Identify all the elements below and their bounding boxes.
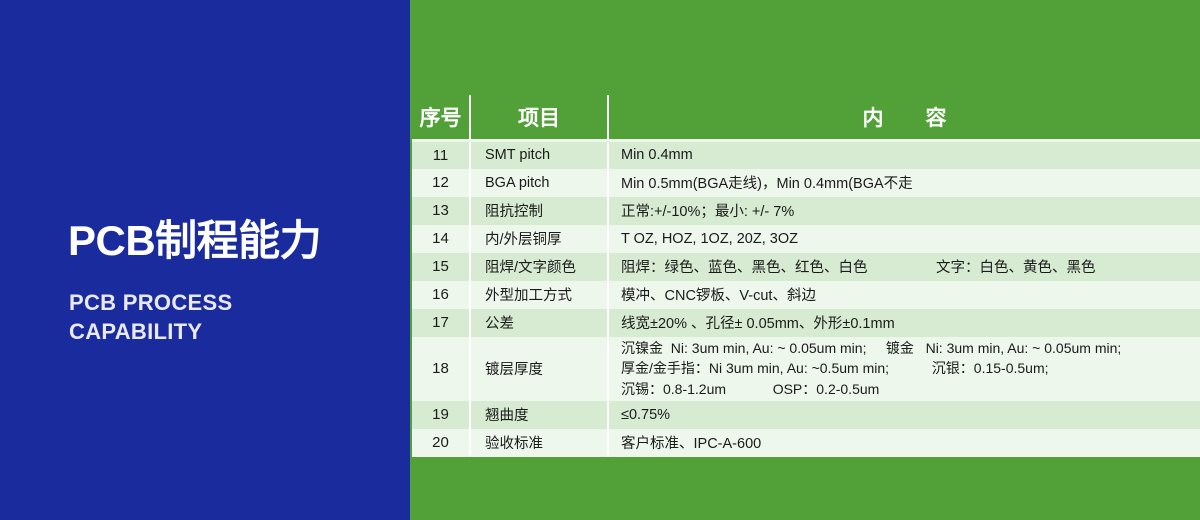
cell-content-solder-colors: 阻焊：绿色、蓝色、黑色、红色、白色 (621, 256, 936, 277)
cell-no: 17 (412, 309, 470, 337)
cell-content: Min 0.5mm(BGA走线)，Min 0.4mm(BGA不走 (608, 169, 1200, 197)
cell-no: 19 (412, 401, 470, 429)
cell-no: 11 (412, 141, 470, 169)
column-header-item: 项目 (470, 95, 608, 141)
column-header-no: 序号 (412, 95, 470, 141)
cell-no: 18 (412, 337, 470, 401)
right-content-panel: 序号 项目 内 容 11 SMT pitch Min 0.4mm 12 (410, 0, 1200, 520)
table-row: 20 验收标准 客户标准、IPC-A-600 (412, 429, 1200, 457)
table-row: 19 翘曲度 ≤0.75% (412, 401, 1200, 429)
cell-item: 内/外层铜厚 (470, 225, 608, 253)
cell-no: 20 (412, 429, 470, 457)
cell-item: 阻抗控制 (470, 197, 608, 225)
cell-item: 外型加工方式 (470, 281, 608, 309)
table-row: 12 BGA pitch Min 0.5mm(BGA走线)，Min 0.4mm(… (412, 169, 1200, 197)
cell-content-plating-detail: 沉镍金 Ni: 3um min, Au: ~ 0.05um min; 镀金 Ni… (621, 338, 1200, 399)
column-header-content: 内 容 (608, 95, 1200, 141)
slide-canvas: PCB制程能力 PCB PROCESS CAPABILITY 序号 项目 内 容 (0, 0, 1200, 520)
cell-item: 镀层厚度 (470, 337, 608, 401)
page-title-chinese: PCB制程能力 (68, 218, 321, 264)
cell-content: 模冲、CNC锣板、V-cut、斜边 (608, 281, 1200, 309)
cell-item: 翘曲度 (470, 401, 608, 429)
cell-content: 阻焊：绿色、蓝色、黑色、红色、白色 文字：白色、黄色、黑色 (608, 253, 1200, 281)
cell-no: 16 (412, 281, 470, 309)
cell-content: 线宽±20% 、孔径± 0.05mm、外形±0.1mm (608, 309, 1200, 337)
cell-no: 13 (412, 197, 470, 225)
cell-content-legend-colors: 文字：白色、黄色、黑色 (936, 256, 1096, 277)
cell-item: SMT pitch (470, 141, 608, 169)
cell-content: 正常:+/-10%；最小: +/- 7% (608, 197, 1200, 225)
page-subtitle-english: PCB PROCESS CAPABILITY (69, 288, 232, 346)
cell-content: 沉镍金 Ni: 3um min, Au: ~ 0.05um min; 镀金 Ni… (608, 337, 1200, 401)
table-row: 15 阻焊/文字颜色 阻焊：绿色、蓝色、黑色、红色、白色 文字：白色、黄色、黑色 (412, 253, 1200, 281)
table-row: 16 外型加工方式 模冲、CNC锣板、V-cut、斜边 (412, 281, 1200, 309)
spec-table-wrapper: 序号 项目 内 容 11 SMT pitch Min 0.4mm 12 (412, 95, 1200, 457)
left-title-panel: PCB制程能力 PCB PROCESS CAPABILITY (0, 0, 410, 520)
table-row: 13 阻抗控制 正常:+/-10%；最小: +/- 7% (412, 197, 1200, 225)
cell-content: Min 0.4mm (608, 141, 1200, 169)
table-header-row: 序号 项目 内 容 (412, 95, 1200, 141)
cell-item: 公差 (470, 309, 608, 337)
cell-item: 验收标准 (470, 429, 608, 457)
pcb-capability-table: 序号 项目 内 容 11 SMT pitch Min 0.4mm 12 (412, 95, 1200, 457)
table-row: 18 镀层厚度 沉镍金 Ni: 3um min, Au: ~ 0.05um mi… (412, 337, 1200, 401)
cell-no: 15 (412, 253, 470, 281)
cell-content: 客户标准、IPC-A-600 (608, 429, 1200, 457)
table-row: 17 公差 线宽±20% 、孔径± 0.05mm、外形±0.1mm (412, 309, 1200, 337)
table-row: 11 SMT pitch Min 0.4mm (412, 141, 1200, 169)
cell-content: ≤0.75% (608, 401, 1200, 429)
cell-item: 阻焊/文字颜色 (470, 253, 608, 281)
cell-content: T OZ, HOZ, 1OZ, 20Z, 3OZ (608, 225, 1200, 253)
cell-item: BGA pitch (470, 169, 608, 197)
table-body: 11 SMT pitch Min 0.4mm 12 BGA pitch Min … (412, 141, 1200, 457)
cell-no: 14 (412, 225, 470, 253)
cell-no: 12 (412, 169, 470, 197)
table-row: 14 内/外层铜厚 T OZ, HOZ, 1OZ, 20Z, 3OZ (412, 225, 1200, 253)
